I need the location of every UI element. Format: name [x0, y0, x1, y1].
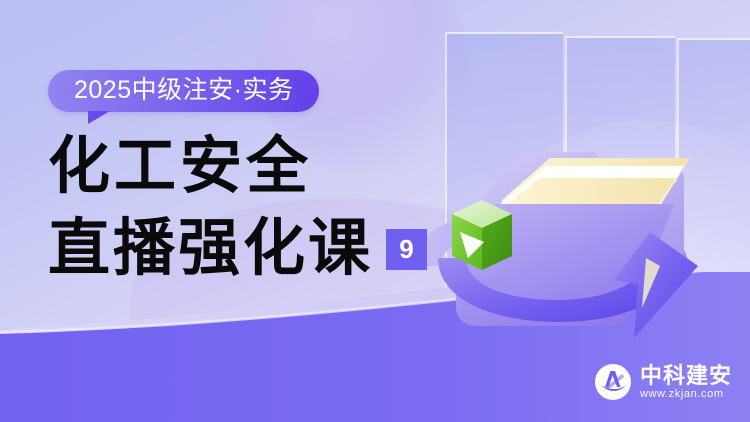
course-badge: 2025中级注安·实务 — [48, 70, 319, 112]
course-badge-label: 2025中级注安·实务 — [48, 70, 319, 112]
course-promo-banner: 2025中级注安·实务 化工安全 直播强化课 9 中科建安 www.zkjan.… — [0, 0, 750, 422]
brand-name: 中科建安 — [640, 365, 732, 387]
headline-block: 2025中级注安·实务 化工安全 直播强化课 9 — [48, 70, 468, 280]
headline-line-2: 直播强化课 — [48, 218, 373, 280]
headline-line-1-wrap: 化工安全 — [48, 136, 468, 198]
course-badge-tail — [88, 111, 110, 124]
lesson-number-badge: 9 — [386, 229, 427, 270]
headline-line-2-row: 直播强化课 9 — [48, 218, 468, 280]
zkjan-logo-icon — [595, 364, 631, 400]
brand-logo: 中科建安 www.zkjan.com — [595, 364, 732, 400]
brand-text-group: 中科建安 www.zkjan.com — [640, 365, 732, 400]
headline-line-1: 化工安全 — [48, 132, 312, 201]
brand-url: www.zkjan.com — [640, 389, 732, 400]
zkjan-mark-svg — [595, 364, 631, 400]
